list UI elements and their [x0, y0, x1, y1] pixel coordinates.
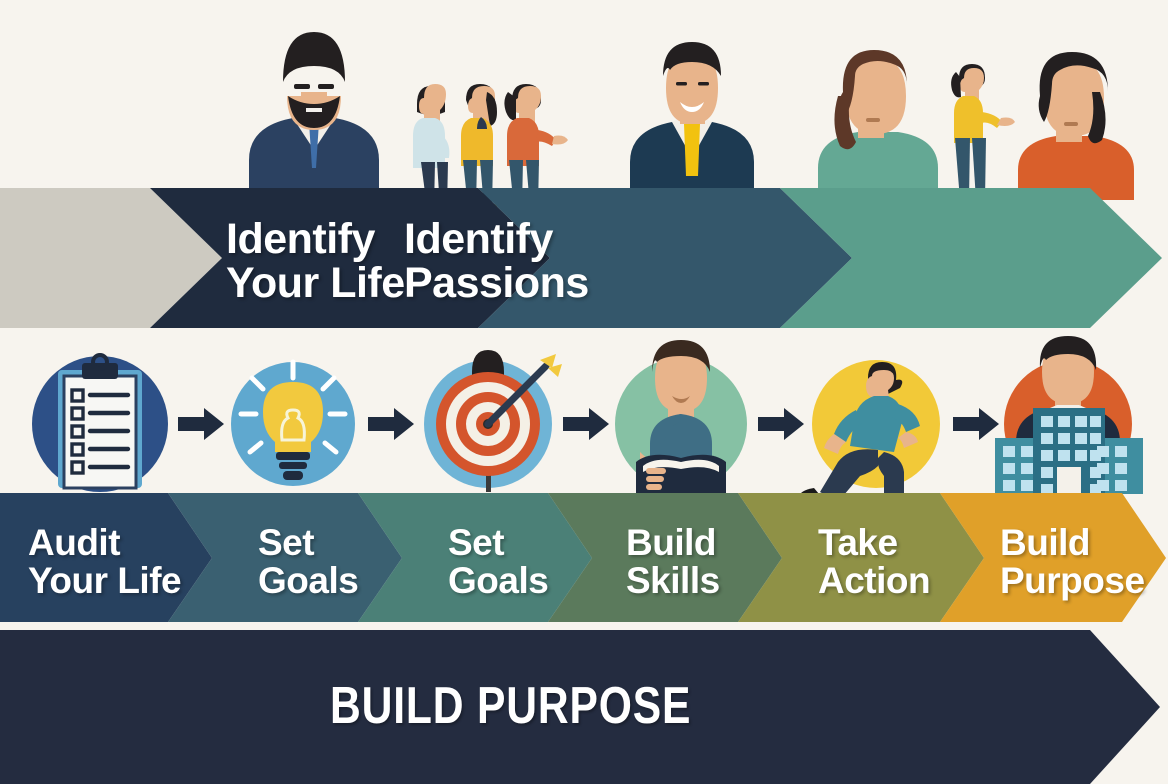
infographic-root: Identify Your Life Identify Passions [0, 0, 1168, 784]
build-purpose-banner [0, 0, 1168, 784]
build-purpose-banner-label: BUILD PURPOSE [330, 680, 691, 733]
